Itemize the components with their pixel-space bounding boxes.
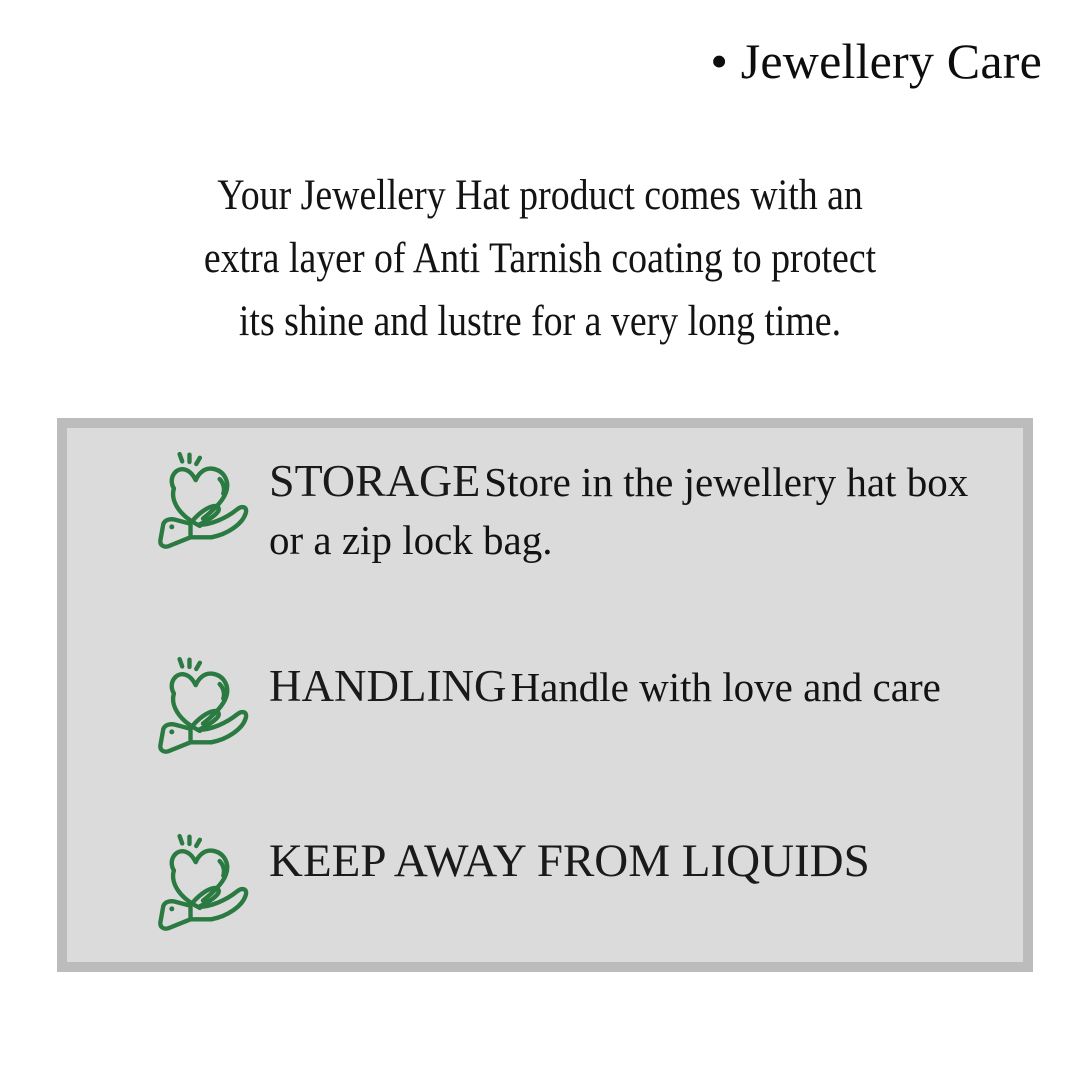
- intro-line: extra layer of Anti Tarnish coating to p…: [118, 227, 963, 290]
- care-row-line: Handle with love and care: [510, 664, 940, 710]
- heart-in-hand-icon: [151, 656, 255, 760]
- care-row-heading: KEEP AWAY FROM LIQUIDS: [269, 835, 870, 887]
- heart-in-hand-icon: [151, 833, 255, 937]
- care-row-text: KEEP AWAY FROM LIQUIDS: [269, 833, 870, 887]
- care-row-storage: STORAGE Store in the jewellery hat box o…: [151, 451, 1023, 569]
- care-row-text: STORAGE Store in the jewellery hat box o…: [269, 451, 1023, 569]
- care-row-handling: HANDLING Handle with love and care: [151, 656, 941, 760]
- care-row-liquids: KEEP AWAY FROM LIQUIDS: [151, 833, 870, 937]
- intro-line: Your Jewellery Hat product comes with an: [118, 164, 963, 227]
- intro-paragraph: Your Jewellery Hat product comes with an…: [60, 164, 1020, 353]
- page-title: • Jewellery Care: [710, 30, 1042, 92]
- care-row-line: or a zip lock bag.: [269, 517, 552, 563]
- care-instructions-card: STORAGE Store in the jewellery hat box o…: [57, 418, 1033, 972]
- care-row-text: HANDLING Handle with love and care: [269, 656, 941, 716]
- title-text: Jewellery Care: [741, 33, 1042, 89]
- title-bullet: •: [710, 33, 728, 89]
- care-row-line: Store in the jewellery hat box: [484, 459, 968, 505]
- heart-in-hand-icon: [151, 451, 255, 555]
- care-row-heading: HANDLING: [269, 661, 506, 711]
- intro-line: its shine and lustre for a very long tim…: [118, 290, 963, 353]
- care-row-heading: STORAGE: [269, 455, 480, 506]
